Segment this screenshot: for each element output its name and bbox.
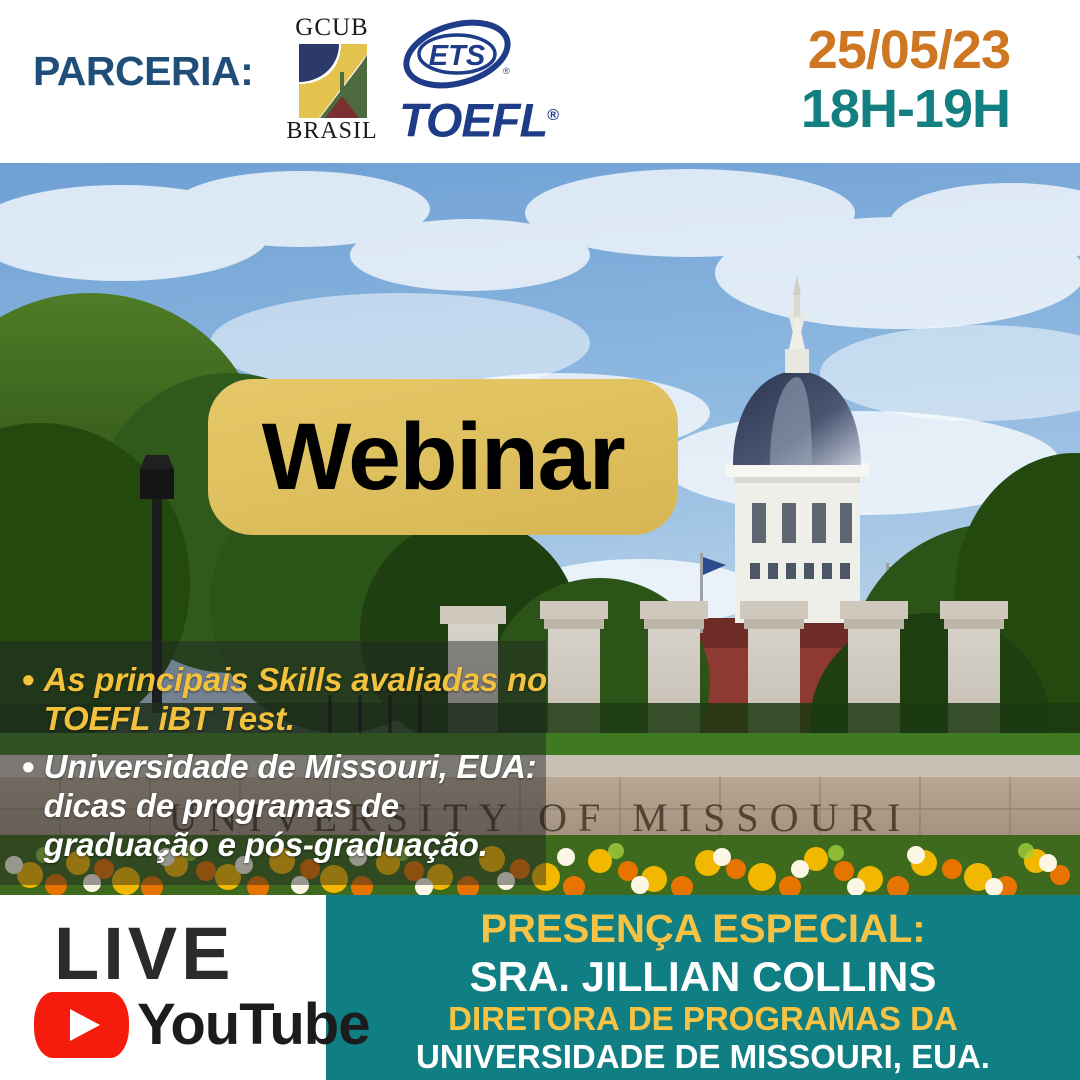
webinar-badge: Webinar [208,379,678,535]
youtube-row: YouTube [28,992,318,1058]
list-item: • As principais Skills avaliadas no TOEF… [0,660,560,738]
webinar-badge-label: Webinar [262,407,625,507]
svg-text:®: ® [503,66,510,76]
bullet-list: • As principais Skills avaliadas no TOEF… [0,660,560,873]
poster-header: PARCERIA: GCUB BRASIL [0,0,1080,163]
hero-section: UNIVERSITY OF MISSOURI Webinar • As prin… [0,163,1080,895]
live-label: LIVE [28,920,318,988]
event-time: 18H-19H [801,79,1010,139]
bullet-marker: • [22,660,35,700]
bullet-marker: • [22,747,35,787]
special-guest-block: PRESENÇA ESPECIAL: SRA. JILLIAN COLLINS … [326,906,1080,1076]
webinar-promo-poster: PARCERIA: GCUB BRASIL [0,0,1080,1080]
partnership-label: PARCERIA: [33,48,253,95]
event-date: 25/05/23 [801,22,1010,79]
svg-text:ETS: ETS [429,40,486,72]
live-youtube-badge[interactable]: LIVE YouTube [28,920,318,1058]
bullet-text: As principais Skills avaliadas no TOEFL … [44,660,560,738]
toefl-registered-mark: ® [547,107,558,124]
special-guest-institution: UNIVERSIDADE DE MISSOURI, EUA. [326,1038,1080,1076]
special-guest-heading: PRESENÇA ESPECIAL: [326,906,1080,953]
gcub-brasil-logo: GCUB BRASIL [277,14,387,151]
event-datetime: 25/05/23 18H-19H [801,22,1010,139]
ets-oval-icon: ETS ® [399,18,524,90]
special-guest-name: SRA. JILLIAN COLLINS [326,953,1080,1000]
bullet-text: Universidade de Missouri, EUA: dicas de … [44,747,560,864]
gcub-square-logo-icon [299,44,367,118]
special-guest-role: DIRETORA DE PROGRAMAS DA [326,1000,1080,1038]
gcub-logo-top-text: GCUB [277,14,387,41]
youtube-play-icon [34,992,129,1058]
toefl-wordmark: TOEFL® [399,90,539,147]
toefl-wordmark-text: TOEFL [399,94,547,147]
list-item: • Universidade de Missouri, EUA: dicas d… [0,747,560,864]
ets-toefl-logo: ETS ® TOEFL® [399,18,539,148]
gcub-logo-bottom-text: BRASIL [277,118,387,145]
